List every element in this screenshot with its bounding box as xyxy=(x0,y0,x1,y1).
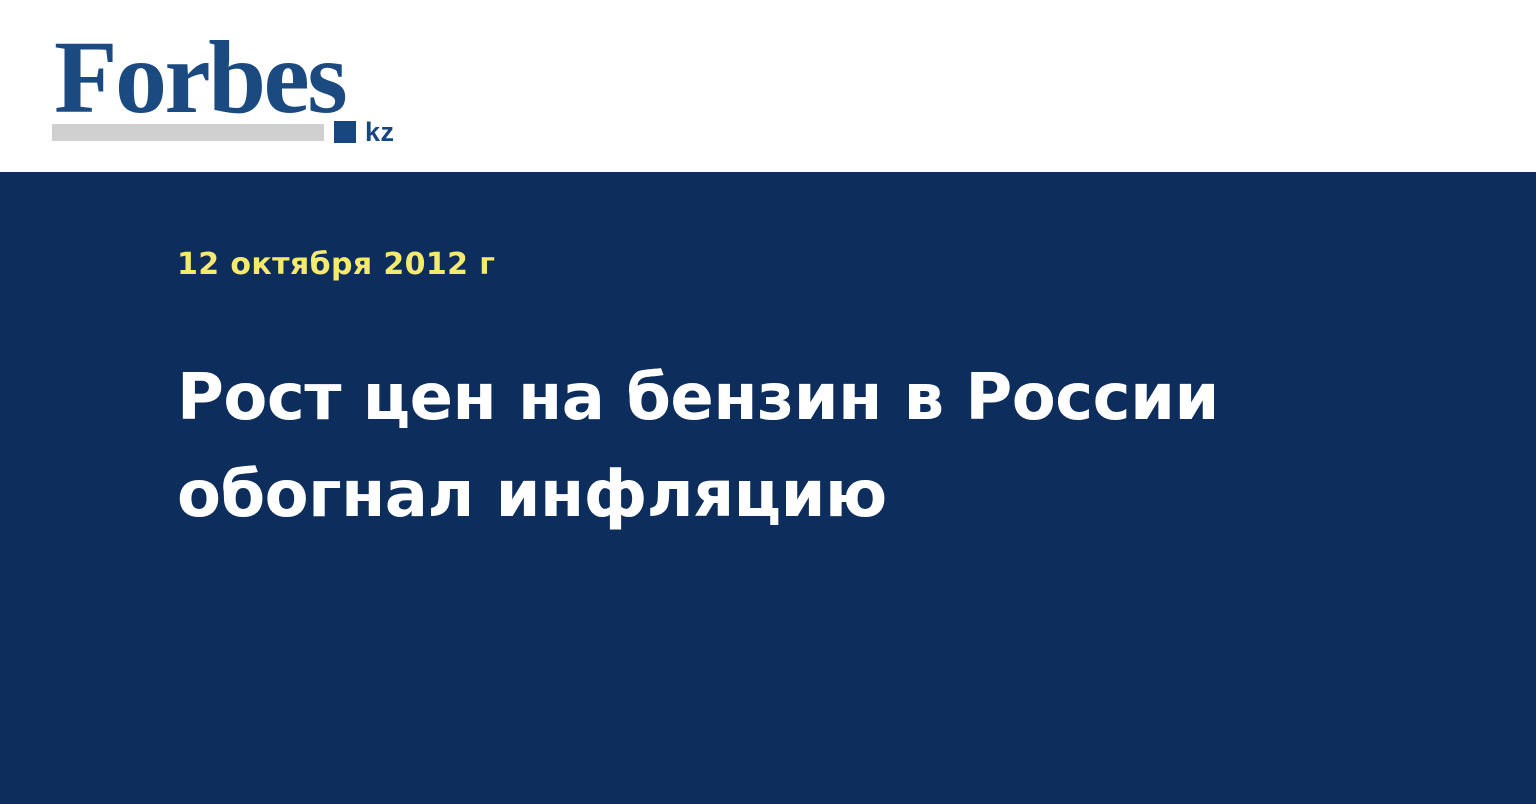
logo-underline-rule xyxy=(52,124,324,141)
article-headline: Рост цен на бензин в России обогнал инфл… xyxy=(177,350,1207,544)
logo-kz-mark: kz xyxy=(334,121,395,143)
article-card: Forbes kz 12 октября 2012 г Рост цен на … xyxy=(0,0,1536,804)
headline-line-1: Рост цен на бензин в России xyxy=(177,350,1207,447)
logo-kz-label: kz xyxy=(365,121,395,143)
article-hero-panel: 12 октября 2012 г Рост цен на бензин в Р… xyxy=(0,172,1536,804)
article-date: 12 октября 2012 г xyxy=(177,248,495,282)
site-header: Forbes kz xyxy=(0,0,1536,172)
logo-square-icon xyxy=(334,121,356,143)
headline-line-2: обогнал инфляцию xyxy=(177,447,1207,544)
forbes-wordmark: Forbes xyxy=(54,26,345,130)
forbes-kz-logo[interactable]: Forbes kz xyxy=(52,26,408,146)
